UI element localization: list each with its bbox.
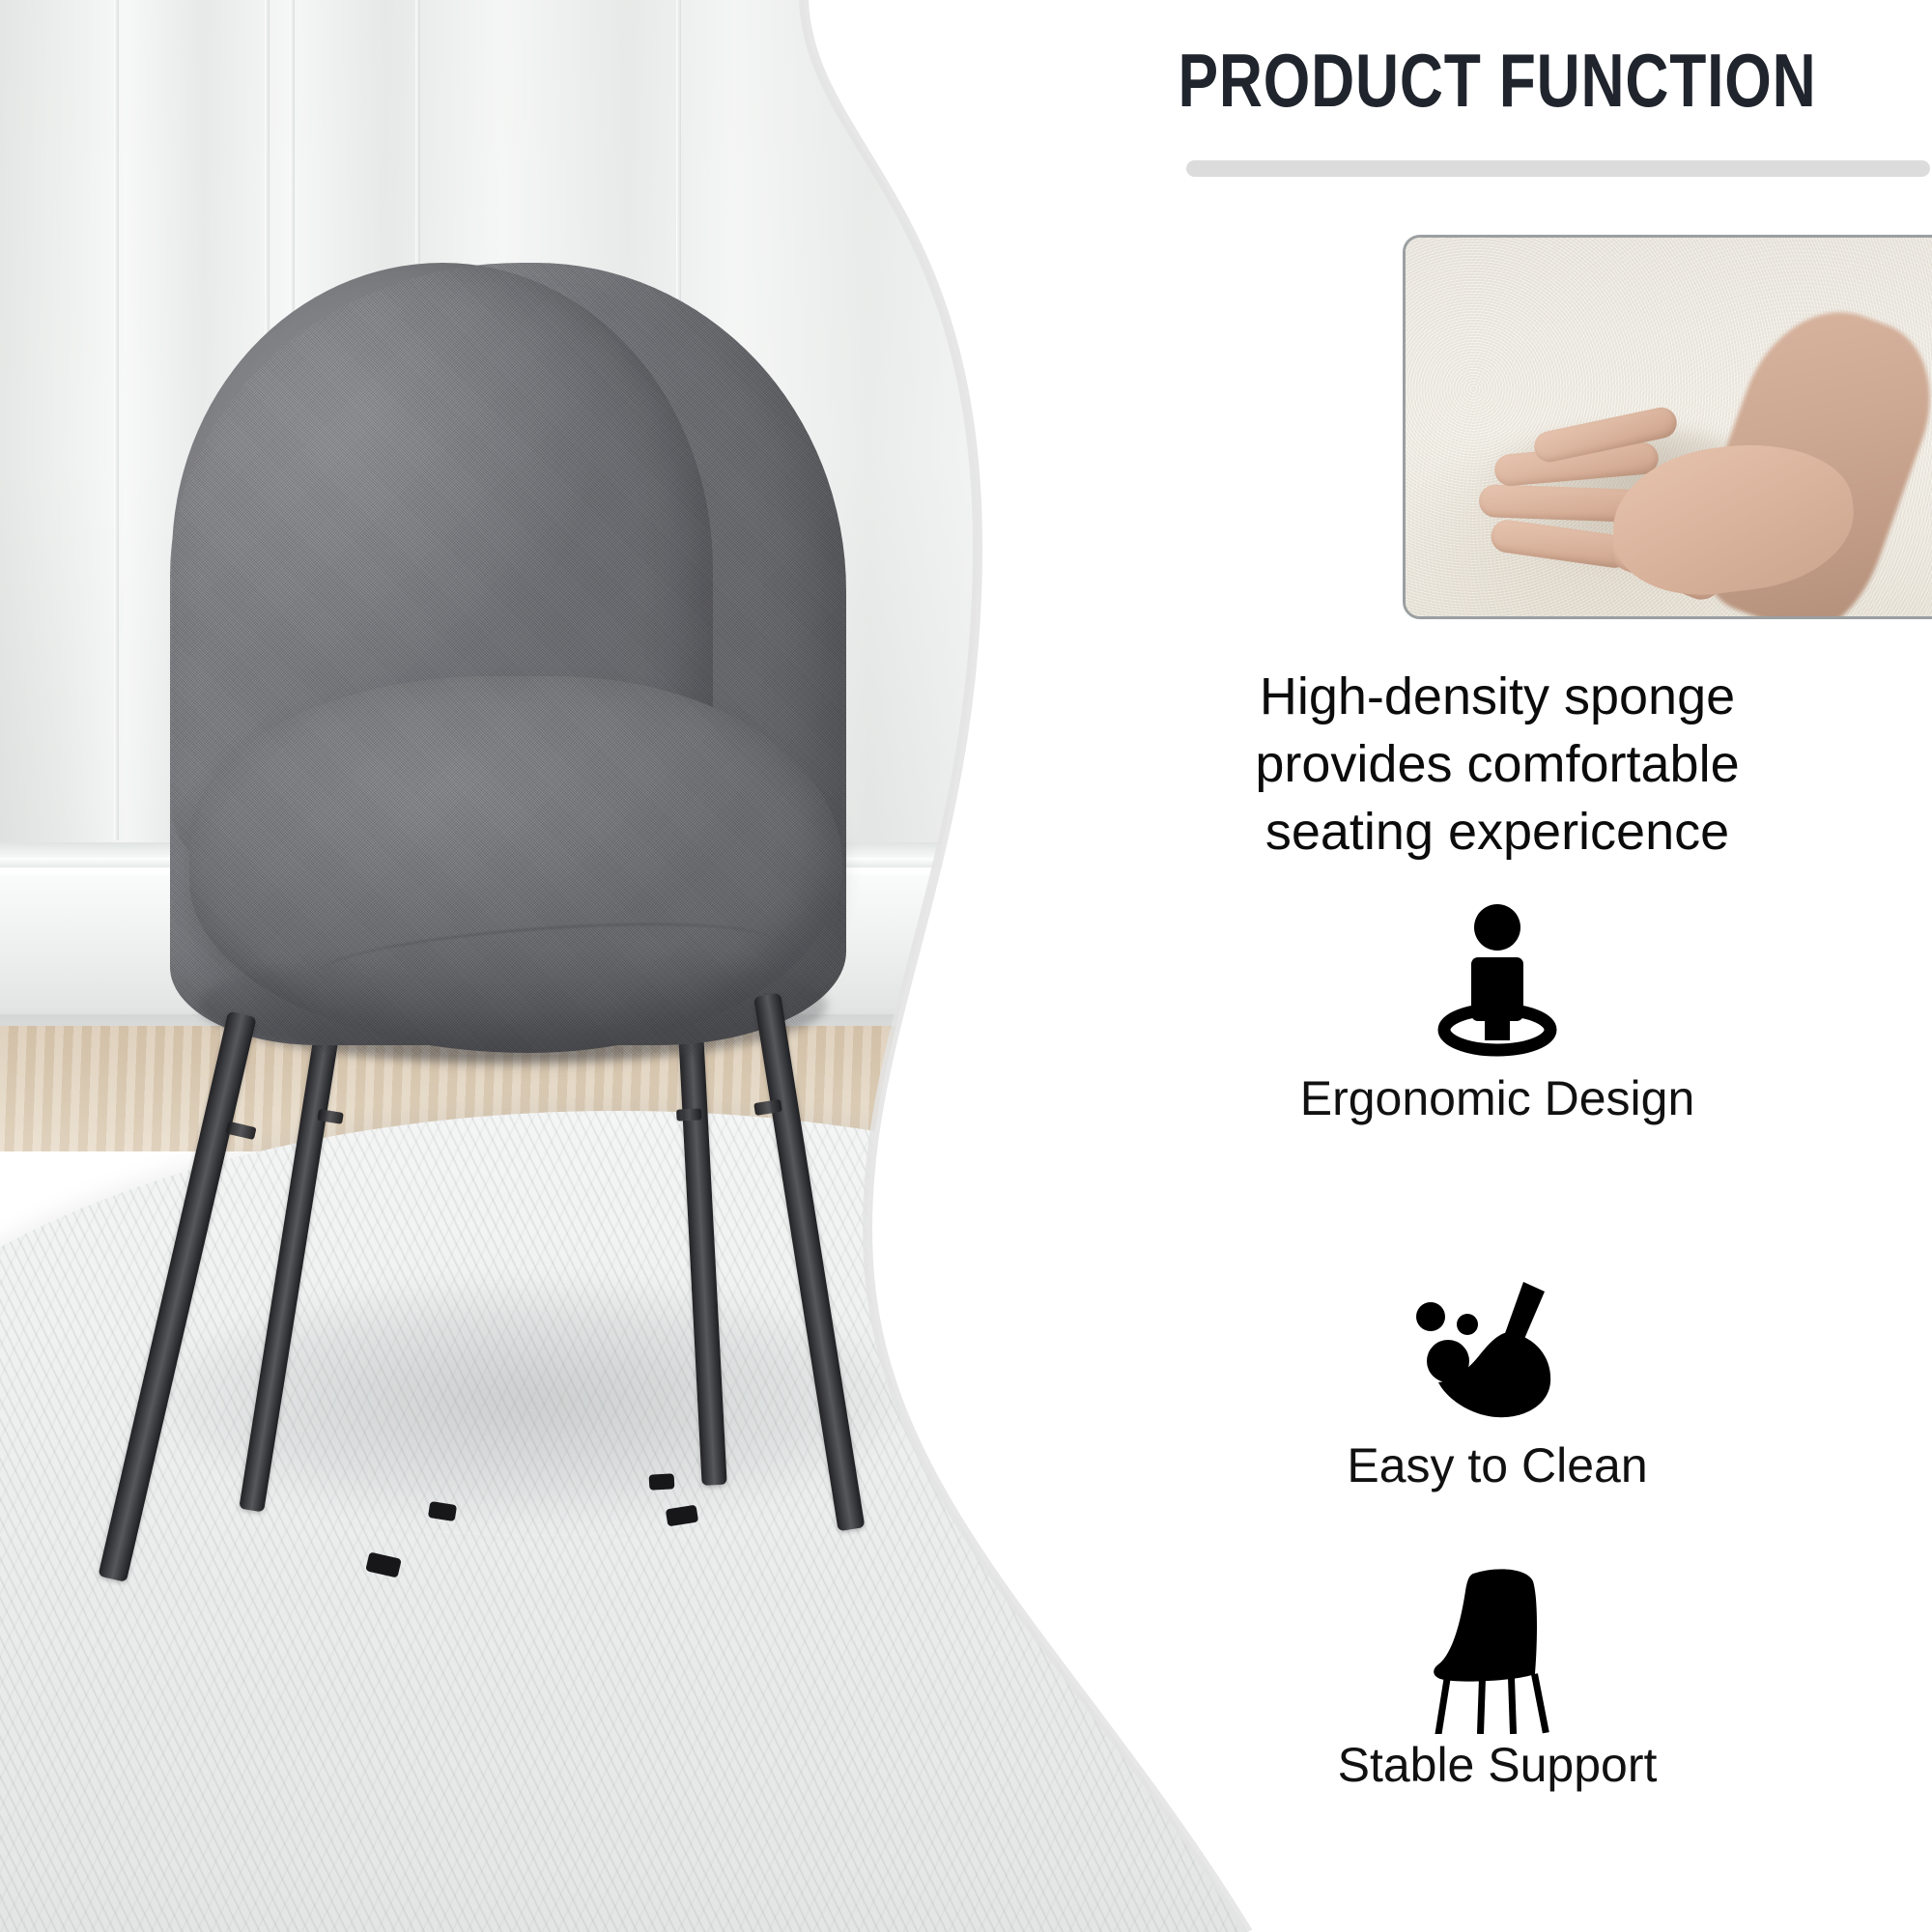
- caption-line-1: High-density sponge: [1072, 663, 1922, 730]
- chair-leg-foot: [428, 1501, 457, 1521]
- feature-easy-to-clean: Easy to Clean: [1063, 1265, 1932, 1493]
- product-function-infographic: PRODUCT FUNCTION High-density sponge pro…: [0, 0, 1932, 1932]
- sponge-photo-card: [1403, 235, 1932, 619]
- page-title: PRODUCT FUNCTION: [1150, 37, 1845, 125]
- chair-leg-ferrule: [676, 1108, 702, 1121]
- feature-ergonomic-design: Ergonomic Design: [1063, 898, 1932, 1126]
- broom-icon: [1063, 1265, 1932, 1432]
- info-panel: PRODUCT FUNCTION High-density sponge pro…: [1063, 0, 1932, 1932]
- chair-leg-ferrule: [225, 1122, 256, 1140]
- title-divider: [1186, 160, 1930, 177]
- chair-fabric-texture: [170, 263, 846, 1055]
- sponge-caption: High-density sponge provides comfortable…: [1072, 663, 1922, 867]
- chair-leg-foot: [666, 1505, 698, 1527]
- feature-label: Ergonomic Design: [1063, 1070, 1932, 1126]
- person-in-circle-icon: [1063, 898, 1932, 1065]
- chair-leg-front-left: [98, 1011, 256, 1582]
- caption-line-3: seating expericence: [1072, 798, 1922, 866]
- chair-leg-foot: [649, 1473, 675, 1490]
- chair-icon: [1063, 1565, 1932, 1731]
- feature-label: Easy to Clean: [1063, 1437, 1932, 1493]
- feature-stable-support: Stable Support: [1063, 1565, 1932, 1793]
- caption-line-2: provides comfortable: [1072, 730, 1922, 798]
- chair-leg-foot: [365, 1551, 402, 1577]
- feature-label: Stable Support: [1063, 1737, 1932, 1793]
